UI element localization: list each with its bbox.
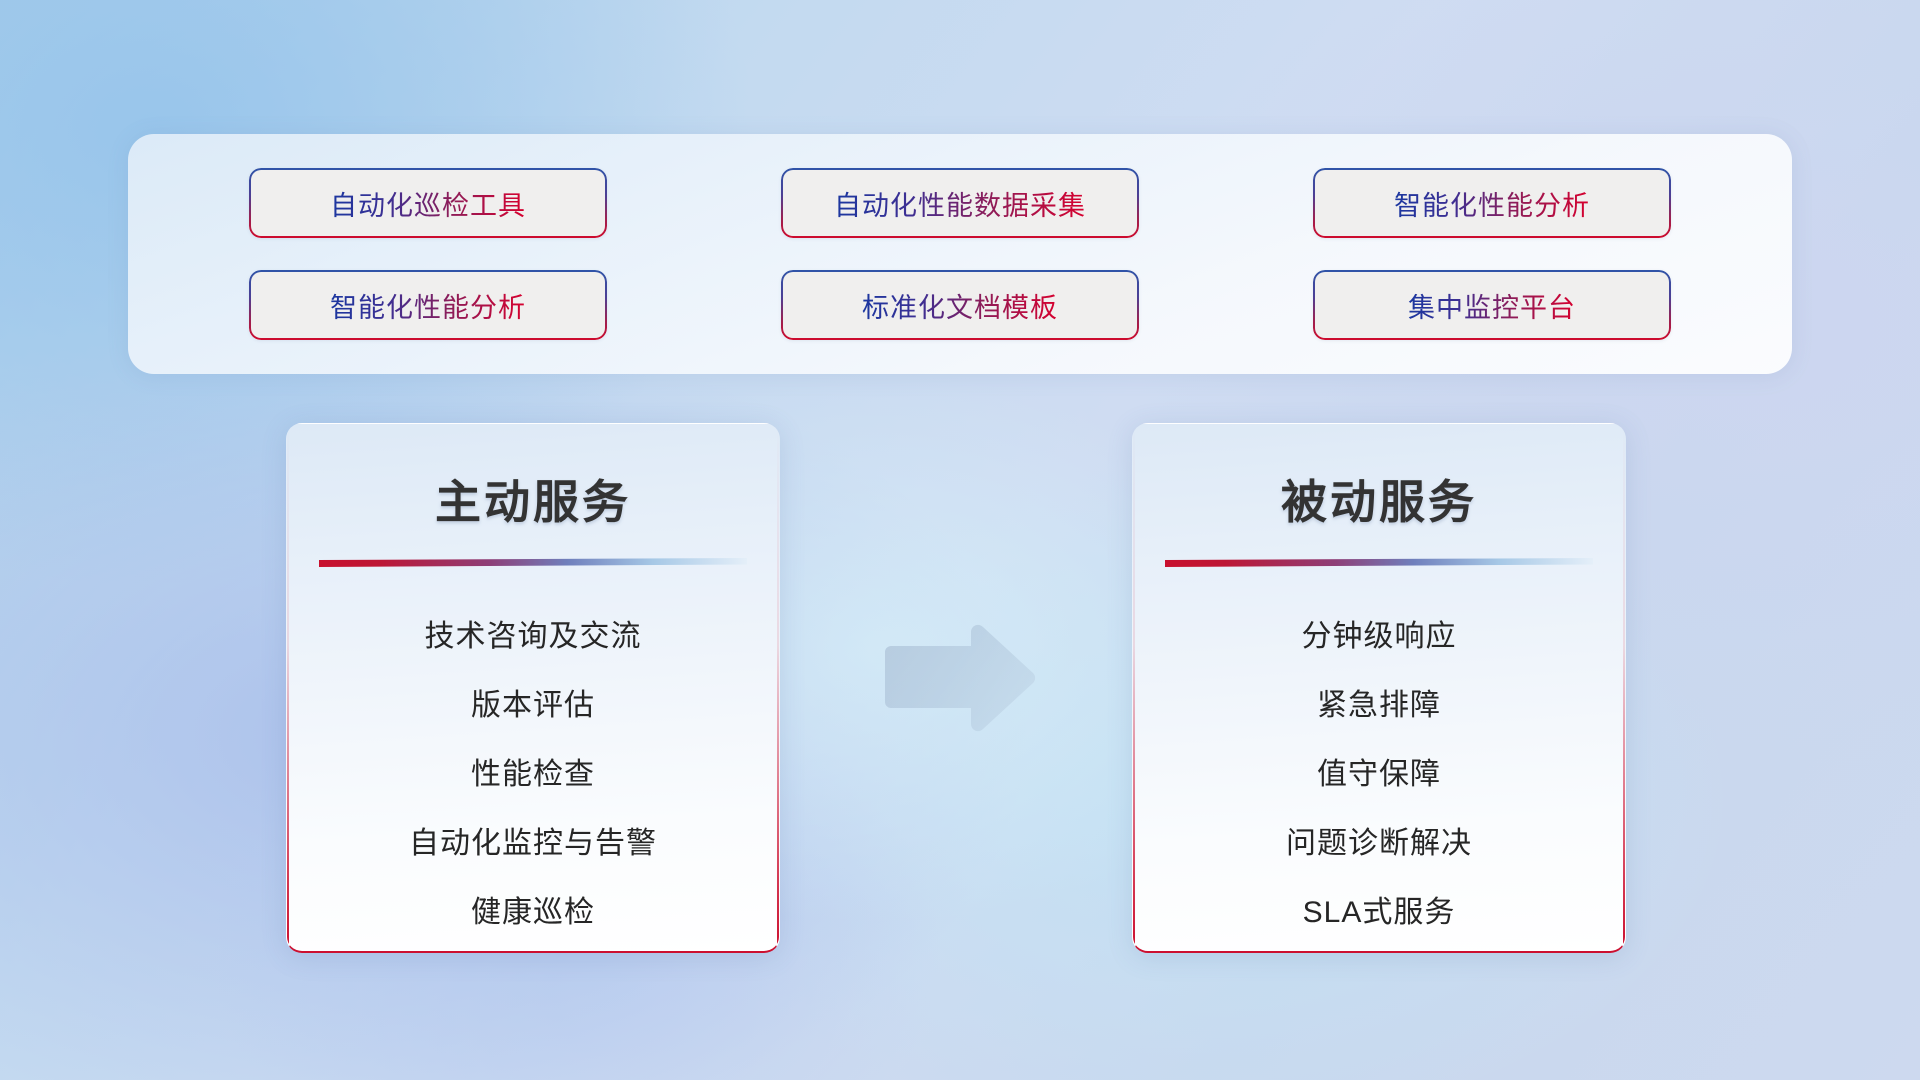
list-item: 版本评估 bbox=[471, 680, 595, 724]
list-item: SLA式服务 bbox=[1303, 887, 1456, 931]
capability-tag[interactable]: 自动化性能数据采集 bbox=[781, 168, 1139, 238]
service-card-proactive: 主动服务 技术咨询及交流 版本评估 性能检查 自动化监控与告警 健康巡检 bbox=[286, 423, 780, 953]
capability-tag-label: 自动化巡检工具 bbox=[330, 184, 526, 223]
capability-tag[interactable]: 集中监控平台 bbox=[1313, 270, 1671, 340]
capability-tag-panel: 自动化巡检工具 自动化性能数据采集 智能化性能分析 智能化性能分析 标准化文档模… bbox=[128, 134, 1792, 374]
capability-tag[interactable]: 智能化性能分析 bbox=[1313, 168, 1671, 238]
capability-tag-label: 智能化性能分析 bbox=[330, 286, 526, 325]
service-card-title: 被动服务 bbox=[1133, 466, 1625, 532]
list-item: 性能检查 bbox=[471, 749, 595, 793]
capability-tag-label: 标准化文档模板 bbox=[862, 286, 1058, 325]
list-item: 技术咨询及交流 bbox=[425, 611, 642, 655]
title-divider bbox=[1165, 558, 1593, 567]
service-card-reactive: 被动服务 分钟级响应 紧急排障 值守保障 问题诊断解决 SLA式服务 bbox=[1132, 423, 1626, 953]
arrow-right-icon bbox=[879, 622, 1041, 732]
service-item-list: 分钟级响应 紧急排障 值守保障 问题诊断解决 SLA式服务 bbox=[1133, 611, 1625, 931]
service-item-list: 技术咨询及交流 版本评估 性能检查 自动化监控与告警 健康巡检 bbox=[287, 611, 779, 931]
service-card-title: 主动服务 bbox=[287, 466, 779, 532]
capability-tag[interactable]: 自动化巡检工具 bbox=[249, 168, 607, 238]
capability-tag-label: 集中监控平台 bbox=[1408, 286, 1576, 325]
list-item: 自动化监控与告警 bbox=[409, 818, 657, 862]
list-item: 健康巡检 bbox=[471, 887, 595, 931]
list-item: 分钟级响应 bbox=[1302, 611, 1457, 655]
list-item: 值守保障 bbox=[1317, 749, 1441, 793]
list-item: 问题诊断解决 bbox=[1286, 818, 1472, 862]
list-item: 紧急排障 bbox=[1317, 680, 1441, 724]
capability-tag[interactable]: 智能化性能分析 bbox=[249, 270, 607, 340]
capability-tag-label: 智能化性能分析 bbox=[1394, 184, 1590, 223]
capability-tag[interactable]: 标准化文档模板 bbox=[781, 270, 1139, 340]
capability-tag-label: 自动化性能数据采集 bbox=[834, 184, 1086, 223]
title-divider bbox=[319, 558, 747, 567]
slide-canvas: 自动化巡检工具 自动化性能数据采集 智能化性能分析 智能化性能分析 标准化文档模… bbox=[0, 0, 1920, 1080]
